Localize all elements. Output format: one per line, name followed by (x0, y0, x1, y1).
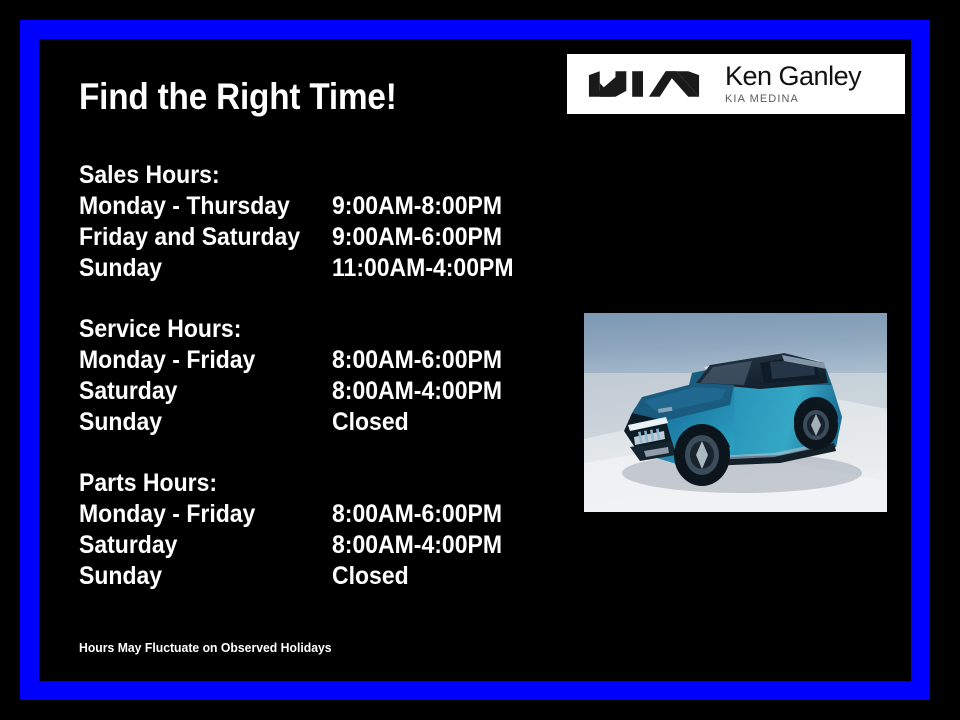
hours-section-heading: Sales Hours: (79, 160, 511, 191)
hours-row: Saturday8:00AM-4:00PM (79, 376, 511, 407)
hours-row-time: 8:00AM-6:00PM (332, 345, 502, 376)
hours-row-days: Sunday (79, 561, 332, 592)
hours-row-days: Sunday (79, 407, 332, 438)
hours-row-time: 11:00AM-4:00PM (332, 253, 514, 284)
hours-row-days: Sunday (79, 253, 332, 284)
hours-row-time: 9:00AM-6:00PM (332, 222, 502, 253)
hours-row-days: Saturday (79, 376, 332, 407)
hours-row-days: Saturday (79, 530, 332, 561)
dealer-subtitle: KIA MEDINA (725, 92, 861, 106)
hours-row-time: Closed (332, 561, 409, 592)
hours-row: Friday and Saturday9:00AM-6:00PM (79, 222, 511, 253)
hours-section: Parts Hours:Monday - Friday8:00AM-6:00PM… (79, 468, 549, 592)
holiday-disclaimer: Hours May Fluctuate on Observed Holidays (79, 640, 332, 656)
kia-ev9-concept-photo (584, 313, 887, 512)
hours-row-days: Monday - Friday (79, 499, 332, 530)
dealer-name: Ken Ganley (725, 62, 861, 91)
page-title: Find the Right Time! (79, 76, 397, 118)
hours-row-days: Monday - Thursday (79, 191, 332, 222)
hours-section-heading: Parts Hours: (79, 468, 511, 499)
hours-row: Saturday8:00AM-4:00PM (79, 530, 511, 561)
hours-row: Monday - Thursday9:00AM-8:00PM (79, 191, 511, 222)
hours-section-heading: Service Hours: (79, 314, 511, 345)
hours-section: Sales Hours:Monday - Thursday9:00AM-8:00… (79, 160, 549, 284)
hours-list: Sales Hours:Monday - Thursday9:00AM-8:00… (79, 160, 549, 592)
hours-row: Monday - Friday8:00AM-6:00PM (79, 345, 511, 376)
hours-row-time: 8:00AM-4:00PM (332, 530, 502, 561)
hours-row: Sunday11:00AM-4:00PM (79, 253, 511, 284)
hours-row-days: Friday and Saturday (79, 222, 332, 253)
hours-row-days: Monday - Friday (79, 345, 332, 376)
dealer-name-block: Ken Ganley KIA MEDINA (725, 62, 861, 106)
hours-row-time: 9:00AM-8:00PM (332, 191, 502, 222)
slide-content: Find the Right Time! Sales Hours:Monday … (0, 0, 960, 720)
kia-logo-icon (585, 68, 703, 100)
hours-section: Service Hours:Monday - Friday8:00AM-6:00… (79, 314, 549, 438)
hours-row-time: Closed (332, 407, 409, 438)
hours-row-time: 8:00AM-4:00PM (332, 376, 502, 407)
hours-row-time: 8:00AM-6:00PM (332, 499, 502, 530)
hours-row: SundayClosed (79, 407, 511, 438)
hours-row: Monday - Friday8:00AM-6:00PM (79, 499, 511, 530)
hours-row: SundayClosed (79, 561, 511, 592)
hours-slide: Find the Right Time! Sales Hours:Monday … (0, 0, 960, 720)
dealer-logo-banner: Ken Ganley KIA MEDINA (567, 54, 905, 114)
